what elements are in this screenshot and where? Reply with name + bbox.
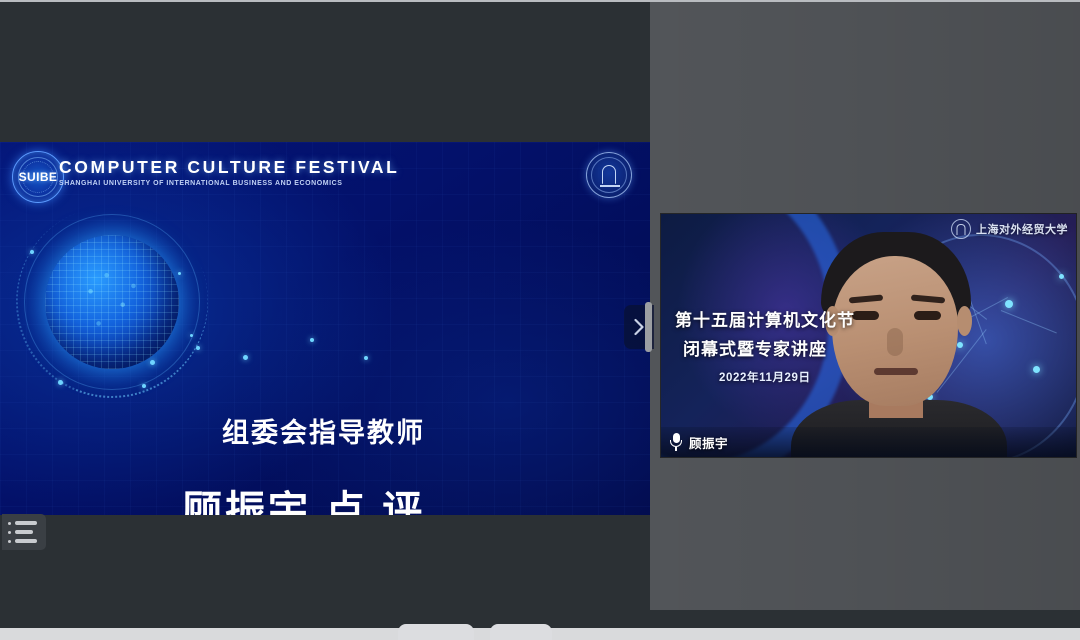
panel-drag-handle[interactable]: [645, 302, 652, 352]
slide-list-toggle-button[interactable]: [2, 514, 46, 550]
speaker-ear-right: [957, 306, 972, 336]
participant-name-bar: 顾振宇: [661, 427, 1076, 457]
list-bar: [15, 521, 37, 525]
globe-spark: [58, 380, 63, 385]
video-watermark: 上海对外经贸大学: [951, 219, 1068, 239]
shared-presentation-slide[interactable]: SUIBE COMPUTER CULTURE FESTIVAL SHANGHAI…: [0, 142, 650, 515]
network-node: [1033, 366, 1040, 373]
slide-spark: [196, 346, 200, 350]
speaker-eye-right: [914, 311, 941, 320]
slide-list-icon-row: [8, 539, 40, 543]
festival-subtitle: SHANGHAI UNIVERSITY OF INTERNATIONAL BUS…: [59, 180, 342, 187]
list-bar: [15, 530, 33, 534]
meeting-app-window: SUIBE COMPUTER CULTURE FESTIVAL SHANGHAI…: [0, 0, 1080, 640]
microphone-icon[interactable]: [669, 433, 683, 451]
network-node: [1059, 274, 1064, 279]
video-overlay-title-line2: 闭幕式暨专家讲座: [683, 335, 827, 360]
slide-list-icon: [8, 521, 40, 525]
speaker-video-tile[interactable]: 第十五届计算机文化节 闭幕式暨专家讲座 2022年11月29日 上海对外经贸大学…: [661, 214, 1076, 457]
globe-spark: [190, 334, 193, 337]
network-node: [1005, 300, 1013, 308]
video-overlay-title-line1: 第十五届计算机文化节: [675, 306, 855, 331]
toolbar-button-left[interactable]: [398, 624, 474, 640]
slide-heading-line1: 组委会指导教师: [222, 411, 425, 450]
participant-name: 顾振宇: [689, 433, 728, 452]
speaker-mouth: [874, 368, 918, 375]
chevron-right-icon: [633, 318, 645, 336]
speaker-portrait: [801, 232, 997, 457]
slide-spark: [364, 356, 368, 360]
speaker-nose: [887, 328, 903, 356]
mic-stem: [675, 447, 677, 451]
slide-header: SUIBE COMPUTER CULTURE FESTIVAL SHANGHAI…: [0, 142, 650, 216]
slide-heading-line2: 顾振宇 点 评: [182, 478, 425, 515]
slide-spark: [150, 360, 155, 365]
video-overlay-date: 2022年11月29日: [719, 369, 811, 385]
suibe-logo-text: SUIBE: [19, 170, 58, 184]
slide-spark: [243, 355, 248, 360]
digital-globe-icon: [24, 214, 200, 390]
video-watermark-text: 上海对外经贸大学: [976, 221, 1068, 237]
university-seal-icon: [586, 152, 632, 198]
speaker-eye-left: [852, 311, 879, 320]
globe-spark: [142, 384, 146, 388]
list-bullet: [8, 540, 11, 543]
list-bullet: [8, 522, 11, 525]
university-seal-icon: [951, 219, 971, 239]
globe-core: [45, 235, 179, 369]
festival-title: COMPUTER CULTURE FESTIVAL: [59, 157, 399, 178]
toolbar-button-right[interactable]: [490, 624, 552, 640]
mic-arc: [670, 440, 682, 447]
slide-list-icon-row: [8, 530, 40, 534]
globe-spark: [30, 250, 34, 254]
suibe-logo-icon: SUIBE: [12, 151, 64, 203]
slide-spark: [310, 338, 314, 342]
seal-gate-glyph: [602, 165, 616, 184]
list-bullet: [8, 531, 11, 534]
bottom-toolbar[interactable]: [0, 628, 1080, 640]
list-bar: [15, 539, 37, 543]
globe-spark: [178, 272, 181, 275]
